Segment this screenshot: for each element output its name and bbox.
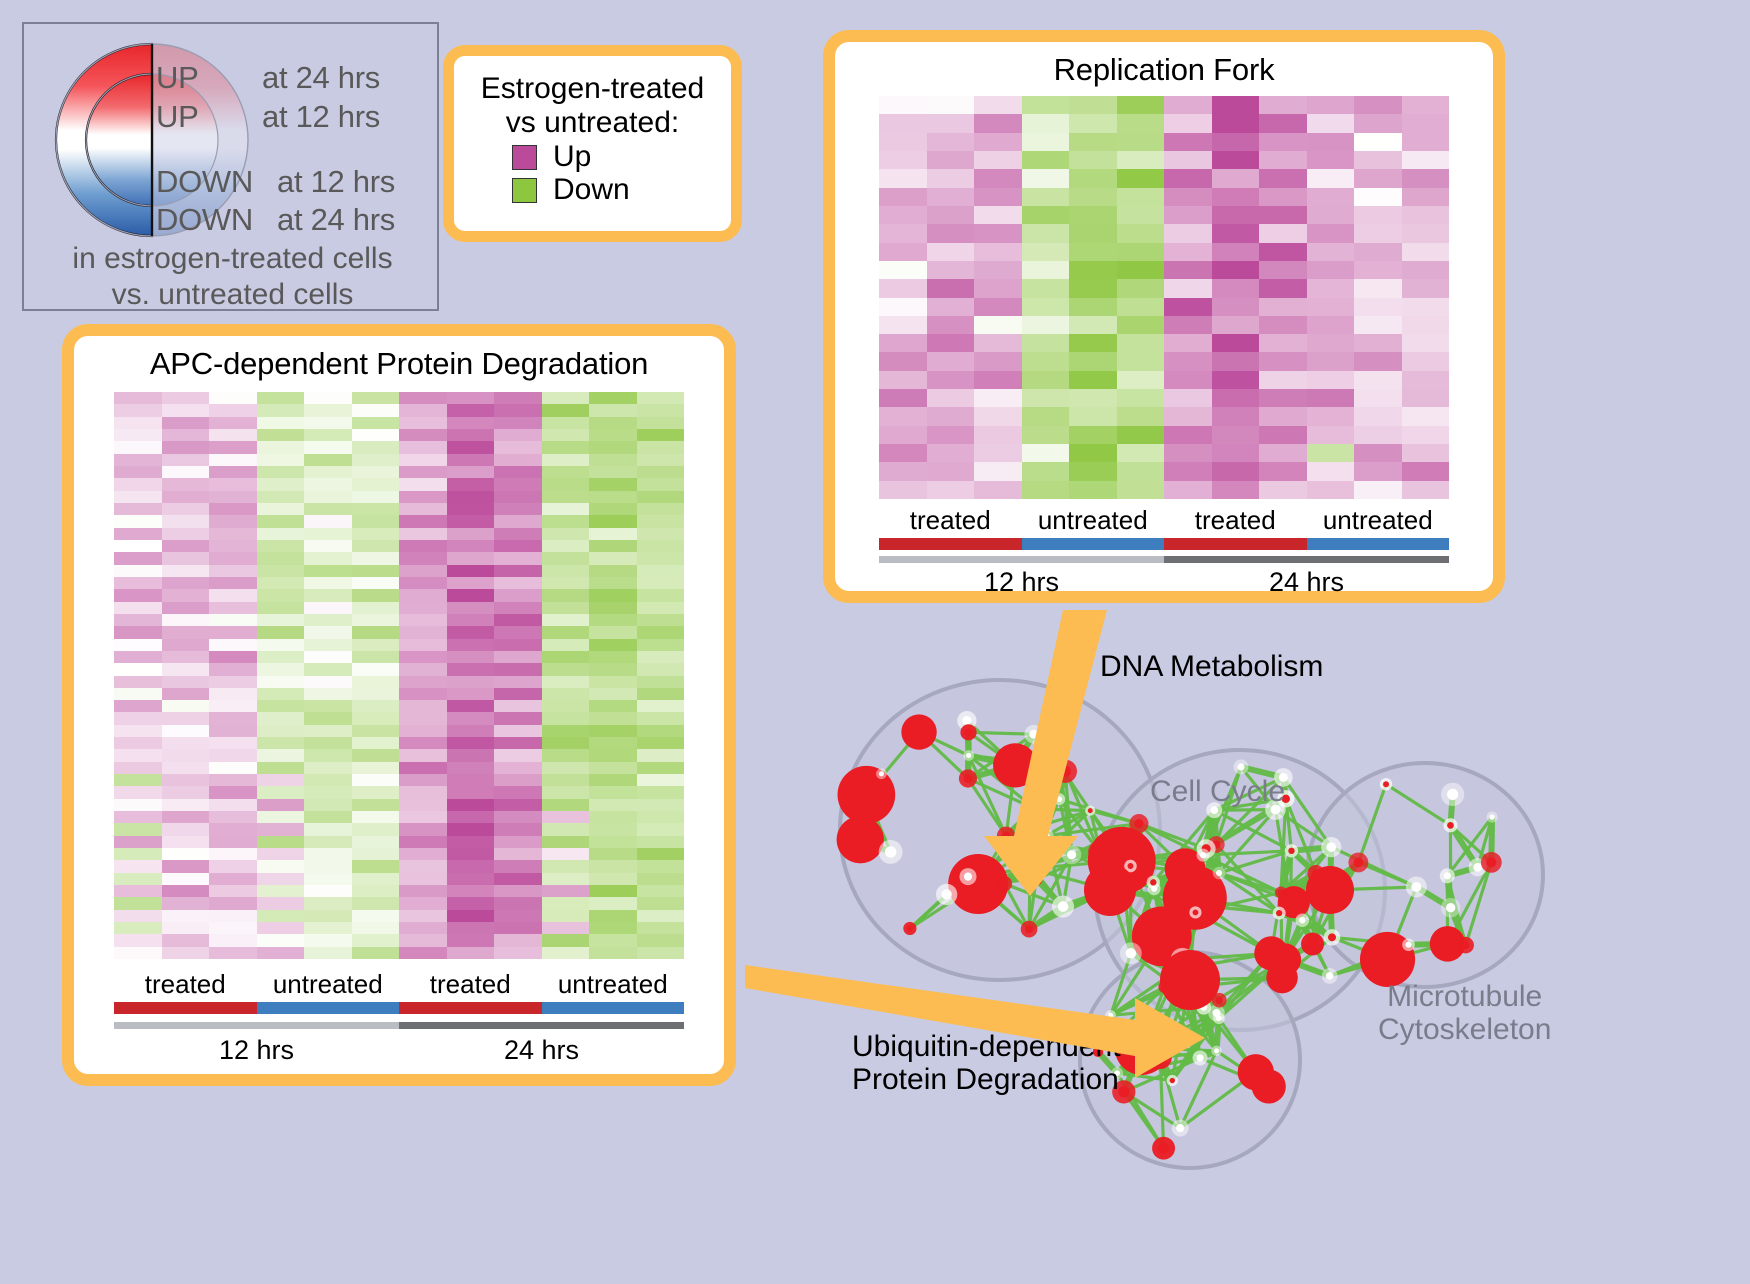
heatmap-cell [1212,298,1260,316]
heatmap-cell [352,651,400,663]
heatmap-cell [494,749,542,761]
heatmap-cell [1402,444,1450,462]
heatmap-cell [879,188,927,206]
heatmap-cell [542,910,590,922]
heatmap-cell [447,515,495,527]
heatmap-cell [162,799,210,811]
network-node-inner-ring [1216,870,1222,876]
heatmap-cell [1259,316,1307,334]
heatmap-cell [494,540,542,552]
group-label: untreated [1307,505,1450,536]
heatmap-cell [1307,279,1355,297]
heatmap-cell [494,503,542,515]
heatmap-cell [1307,371,1355,389]
heatmap-cell [1164,371,1212,389]
heatmap-cell [1022,444,1070,462]
network-node-inner-ring [962,716,971,725]
heatmap-cell [637,725,685,737]
heatmap-cell [209,897,257,909]
heatmap-cell [257,885,305,897]
heatmap-cell [162,639,210,651]
heatmap-cell [927,151,975,169]
heatmap-cell [589,737,637,749]
heatmap-cell [447,417,495,429]
heatmap-cell [352,676,400,688]
heatmap-cell [162,725,210,737]
heatmap-cell [209,700,257,712]
heatmap-cell [1259,334,1307,352]
heatmap-cell [399,774,447,786]
heatmap-cell [1307,151,1355,169]
heatmap-cell [257,749,305,761]
heatmap-cell [542,565,590,577]
heatmap-cell [162,873,210,885]
heatmap-cell [542,712,590,724]
heatmap-cell [974,96,1022,114]
heatmap-cell [399,934,447,946]
heatmap-cell [162,676,210,688]
heatmap-cell [447,947,495,959]
network-node-inner-ring [1354,858,1364,868]
heatmap-cell [352,404,400,416]
heatmap-cell [352,466,400,478]
treatment-bars-replication-fork [879,538,1449,550]
heatmap-cell [257,454,305,466]
heatmap-cell [352,515,400,527]
heatmap-cell [637,700,685,712]
heatmap-cell [974,261,1022,279]
heatmap-cell [589,614,637,626]
network-node-inner-ring [1473,863,1482,872]
heatmap-cell [542,491,590,503]
group-label: untreated [257,969,400,1000]
heatmap-cell [1164,261,1212,279]
ring-time-up-24: at 24 hrs [262,60,380,96]
panel-apc-degradation: APC-dependent Protein Degradation treate… [62,324,736,1086]
group-label: untreated [1022,505,1165,536]
heatmap-cell [542,614,590,626]
heatmap-cell [637,429,685,441]
heatmap-cell [1402,261,1450,279]
heatmap-cell [1164,96,1212,114]
network-node-inner-ring [1446,903,1455,912]
heatmap-cell [399,737,447,749]
ring-time-up-12: at 12 hrs [262,99,380,135]
heatmap-cell [1402,334,1450,352]
heatmap-cell [637,478,685,490]
heatmap-cell [1402,407,1450,425]
heatmap-cell [589,676,637,688]
heatmap-cell [114,836,162,848]
heatmap-cell [927,389,975,407]
network-node-inner-ring [1383,781,1389,787]
heatmap-cell [114,651,162,663]
heatmap-cell [927,114,975,132]
heatmap-cell [974,133,1022,151]
heatmap-cell [1117,371,1165,389]
heatmap-cell [304,910,352,922]
heatmap-cell [209,614,257,626]
heatmap-cell [209,712,257,724]
heatmap-cell [304,404,352,416]
heatmap-cell [494,934,542,946]
heatmap-cell [494,651,542,663]
heatmap-cell [399,441,447,453]
heatmap-cell [447,614,495,626]
heatmap-cell [304,639,352,651]
heatmap-cell [399,515,447,527]
heatmap-cell [399,626,447,638]
heatmap-cell [304,392,352,404]
heatmap-cell [304,528,352,540]
network-node-inner-ring [1193,910,1199,916]
network-node-inner-ring [1486,857,1496,867]
heatmap-cell [1022,352,1070,370]
network-node-inner-ring [1278,890,1284,896]
heatmap-cell [352,478,400,490]
heatmap-cell [447,602,495,614]
heatmap-cell [209,589,257,601]
heatmap-cell [1164,316,1212,334]
heatmap-cell [1212,206,1260,224]
heatmap-cell [162,811,210,823]
time-bar [879,556,1164,563]
heatmap-cell [589,873,637,885]
heatmap-cell [1117,481,1165,499]
heatmap-cell [494,799,542,811]
heatmap-cell [304,725,352,737]
heatmap-cell [542,589,590,601]
up-color-swatch [512,145,537,170]
heatmap-cell [1069,334,1117,352]
heatmap-cell [1069,316,1117,334]
heatmap-cell [542,885,590,897]
heatmap-cell [879,298,927,316]
network-node-inner-ring [966,753,971,758]
heatmap-cell [637,885,685,897]
heatmap-cell [1212,96,1260,114]
heatmap-cell [399,565,447,577]
heatmap-cell [494,737,542,749]
heatmap-cell [1354,407,1402,425]
heatmap-cell [447,799,495,811]
heatmap-cell [114,947,162,959]
heatmap-cell [637,848,685,860]
panel-title-apc: APC-dependent Protein Degradation [74,336,724,382]
heatmap-cell [304,602,352,614]
heatmap-cell [637,737,685,749]
heatmap-cell [1069,206,1117,224]
heatmap-cell [162,749,210,761]
heatmap-cell [1402,224,1450,242]
heatmap-cell [399,417,447,429]
heatmap-cell [879,243,927,261]
heatmap-cell [162,429,210,441]
heatmap-cell [447,565,495,577]
heatmap-cell [447,688,495,700]
heatmap-cell [162,614,210,626]
heatmap-cell [589,429,637,441]
network-node-inner-ring [965,728,973,736]
heatmap-cell [162,565,210,577]
heatmap-cell [114,515,162,527]
heatmap-cell [542,688,590,700]
heatmap-cell [1354,96,1402,114]
cluster-label-microtubule: Microtubule Cytoskeleton [1378,980,1551,1046]
heatmap-cell [399,823,447,835]
heatmap-cell [114,897,162,909]
heatmap-cell [637,762,685,774]
network-node-outer-ring [1238,1054,1274,1090]
heatmap-cell [1069,444,1117,462]
heatmap-cell [927,352,975,370]
heatmap-cell [447,676,495,688]
heatmap-cell [542,947,590,959]
heatmap-cell [589,441,637,453]
heatmap-cell [1212,352,1260,370]
heatmap-cell [114,528,162,540]
heatmap-cell [162,848,210,860]
heatmap-cell [542,749,590,761]
heatmap-cell [447,540,495,552]
heatmap-cell [257,491,305,503]
heatmap-cell [974,389,1022,407]
heatmap-cell [637,565,685,577]
heatmap-cell [1259,151,1307,169]
heatmap-cell [1164,151,1212,169]
heatmap-cell [542,429,590,441]
heatmap-cell [974,298,1022,316]
heatmap-cell [304,565,352,577]
heatmap-cell [637,676,685,688]
heatmap-cell [542,860,590,872]
heatmap-cell [447,454,495,466]
heatmap-cell [1022,279,1070,297]
heatmap-cell [589,540,637,552]
heatmap-cell [1259,224,1307,242]
heatmap-cell [209,910,257,922]
heatmap-cell [589,922,637,934]
heatmap-cell [399,528,447,540]
heatmap-cell [162,478,210,490]
heatmap-cell [257,503,305,515]
heatmap-cell [162,922,210,934]
down-label: Down [553,175,630,205]
network-node-outer-ring [1160,950,1220,1010]
heatmap-cell [114,873,162,885]
heatmap-cell [162,540,210,552]
heatmap-cell [209,417,257,429]
heatmap-cell [974,352,1022,370]
heatmap-cell [637,811,685,823]
network-node-inner-ring [1326,842,1336,852]
heatmap-cell [1164,389,1212,407]
heatmap-cell [114,441,162,453]
heatmap-cell [1022,481,1070,499]
heatmap-cell [114,417,162,429]
network-node-outer-ring [901,714,936,749]
heatmap-cell [257,528,305,540]
heatmap-cell [114,934,162,946]
heatmap-cell [447,577,495,589]
time-bar [114,1022,399,1029]
heatmap-cell [447,749,495,761]
heatmap-cell [1354,279,1402,297]
key-title-line2: vs untreated: [462,106,723,140]
heatmap-cell [1117,334,1165,352]
panel-title-replication-fork: Replication Fork [835,42,1493,88]
heatmap-cell [209,565,257,577]
heatmap-cell [637,454,685,466]
heatmap-cell [114,823,162,835]
heatmap-cell [927,298,975,316]
heatmap-cell [1069,114,1117,132]
group-label: treated [399,969,542,1000]
heatmap-cell [162,651,210,663]
heatmap-cell [1354,261,1402,279]
heatmap-cell [209,811,257,823]
heatmap-cell [879,334,927,352]
heatmap-cell [114,565,162,577]
heatmap-cell [927,481,975,499]
cluster-label-dna-metabolism: DNA Metabolism [1100,650,1323,683]
heatmap-cell [352,392,400,404]
heatmap-cell [542,577,590,589]
heatmap-cell [447,552,495,564]
heatmap-cell [1164,481,1212,499]
heatmap-cell [352,762,400,774]
heatmap-cell [637,466,685,478]
heatmap-cell [162,700,210,712]
heatmap-cell [447,589,495,601]
heatmap-cell [114,466,162,478]
heatmap-cell [1117,316,1165,334]
heatmap-cell [1212,462,1260,480]
heatmap-cell [257,676,305,688]
network-node-inner-ring [964,774,973,783]
key-row-down: Down [512,175,731,205]
heatmap-cell [589,417,637,429]
heatmap-cell [209,688,257,700]
heatmap-cell [542,602,590,614]
heatmap-cell [589,528,637,540]
heatmap-cell [1307,389,1355,407]
heatmap-cell [927,316,975,334]
heatmap-cell [162,688,210,700]
heatmap-cell [927,243,975,261]
heatmap-cell [1402,316,1450,334]
network-node-inner-ring [1127,863,1133,869]
heatmap-cell [114,712,162,724]
heatmap-cell [542,873,590,885]
heatmap-cell [209,725,257,737]
heatmap-cell [447,897,495,909]
heatmap-cell [879,261,927,279]
heatmap-cell [114,602,162,614]
heatmap-cell [304,947,352,959]
heatmap-cell [927,224,975,242]
heatmap-cell [1164,352,1212,370]
heatmap-cell [1402,133,1450,151]
heatmap-cell [1354,206,1402,224]
heatmap-cell [257,626,305,638]
heatmap-cell [257,441,305,453]
heatmap-cell [1117,151,1165,169]
heatmap-cell [1117,352,1165,370]
network-node-inner-ring [1489,814,1494,819]
heatmap-cell [637,910,685,922]
heatmap-cell [494,404,542,416]
heatmap-cell [447,873,495,885]
heatmap-cell [1259,407,1307,425]
heatmap-cell [257,663,305,675]
heatmap-cell [542,478,590,490]
group-label: treated [114,969,257,1000]
heatmap-cell [257,799,305,811]
heatmap-cell [352,737,400,749]
heatmap-cell [1354,188,1402,206]
group-labels-replication-fork: treateduntreatedtreateduntreated [879,505,1449,536]
heatmap-cell [447,429,495,441]
heatmap-cell [542,663,590,675]
heatmap-cell [1402,298,1450,316]
network-node-inner-ring [1150,879,1156,885]
ring-caption-line1: in estrogen-treated cells [24,242,441,276]
heatmap-cell [542,774,590,786]
heatmap-cell [494,897,542,909]
heatmap-cell [1212,169,1260,187]
heatmap-cell [1402,279,1450,297]
heatmap-cell [879,444,927,462]
heatmap-cell [1164,298,1212,316]
network-node-inner-ring [1405,942,1411,948]
heatmap-cell [637,786,685,798]
heatmap-cell [1354,224,1402,242]
heatmap-cell [1307,169,1355,187]
heatmap-cell [542,552,590,564]
heatmap-cell [447,700,495,712]
heatmap-cell [1307,316,1355,334]
heatmap-cell [974,426,1022,444]
heatmap-cell [304,749,352,761]
heatmap-cell [209,552,257,564]
heatmap-cell [1307,96,1355,114]
heatmap-cell [589,712,637,724]
heatmap-cell [974,462,1022,480]
heatmap-cell [1069,261,1117,279]
heatmap-cell [542,515,590,527]
heatmap-cell [1069,133,1117,151]
group-labels-apc: treateduntreatedtreateduntreated [114,969,684,1000]
heatmap-cell [209,528,257,540]
heatmap-cell [589,515,637,527]
heatmap-cell [637,934,685,946]
heatmap-cell [257,873,305,885]
heatmap-cell [447,392,495,404]
heatmap-cell [637,552,685,564]
network-node-inner-ring [1237,763,1244,770]
heatmap-cell [637,663,685,675]
heatmap-cell [1069,352,1117,370]
heatmap-cell [1164,334,1212,352]
heatmap-cell [352,663,400,675]
heatmap-cell [114,910,162,922]
heatmap-cell [399,700,447,712]
heatmap-cell [399,897,447,909]
heatmap-cell [1402,243,1450,261]
heatmap-cell [209,540,257,552]
heatmap-cell [304,737,352,749]
